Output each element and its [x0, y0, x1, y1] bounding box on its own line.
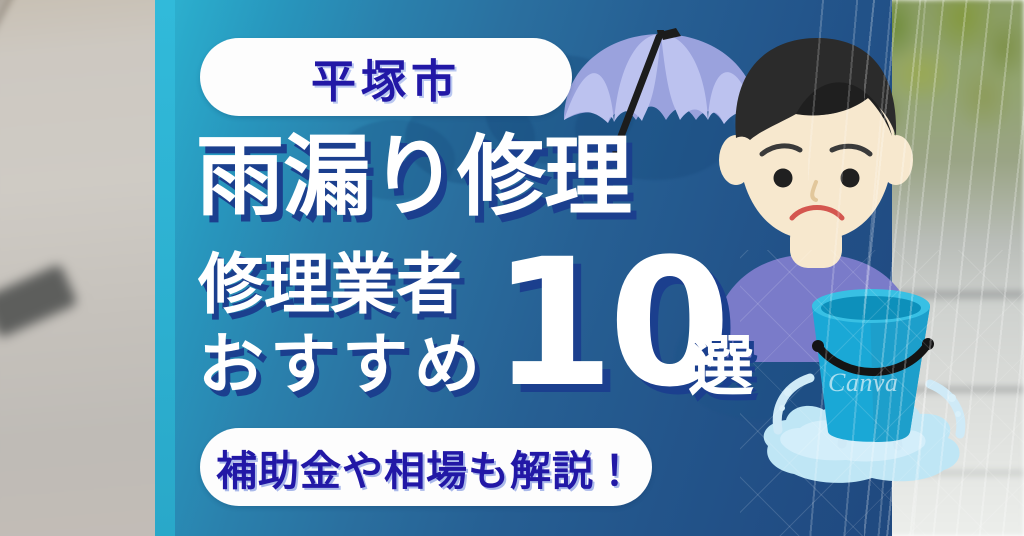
banner-root: Canva 平塚市 雨漏り修理 修理業者 おすすめ 10 選 補助金や相場も解説… [0, 0, 1024, 536]
page-title: 雨漏り修理 [196, 133, 631, 221]
roof-shingles-photo [0, 0, 181, 536]
subtitle-line-1: 修理業者 [198, 252, 462, 318]
bottom-badge: 補助金や相場も解説！ [200, 428, 652, 506]
city-badge: 平塚市 [200, 38, 572, 116]
count-suffix: 選 [688, 334, 754, 400]
roof-shingle-dark-patch [0, 263, 78, 338]
city-badge-label: 平塚市 [311, 45, 461, 110]
rain-streaks-overlay [808, 0, 928, 536]
bottom-badge-label: 補助金や相場も解説！ [216, 437, 636, 497]
cyan-edge-strip [155, 0, 175, 536]
subtitle-line-2: おすすめ [198, 332, 486, 398]
